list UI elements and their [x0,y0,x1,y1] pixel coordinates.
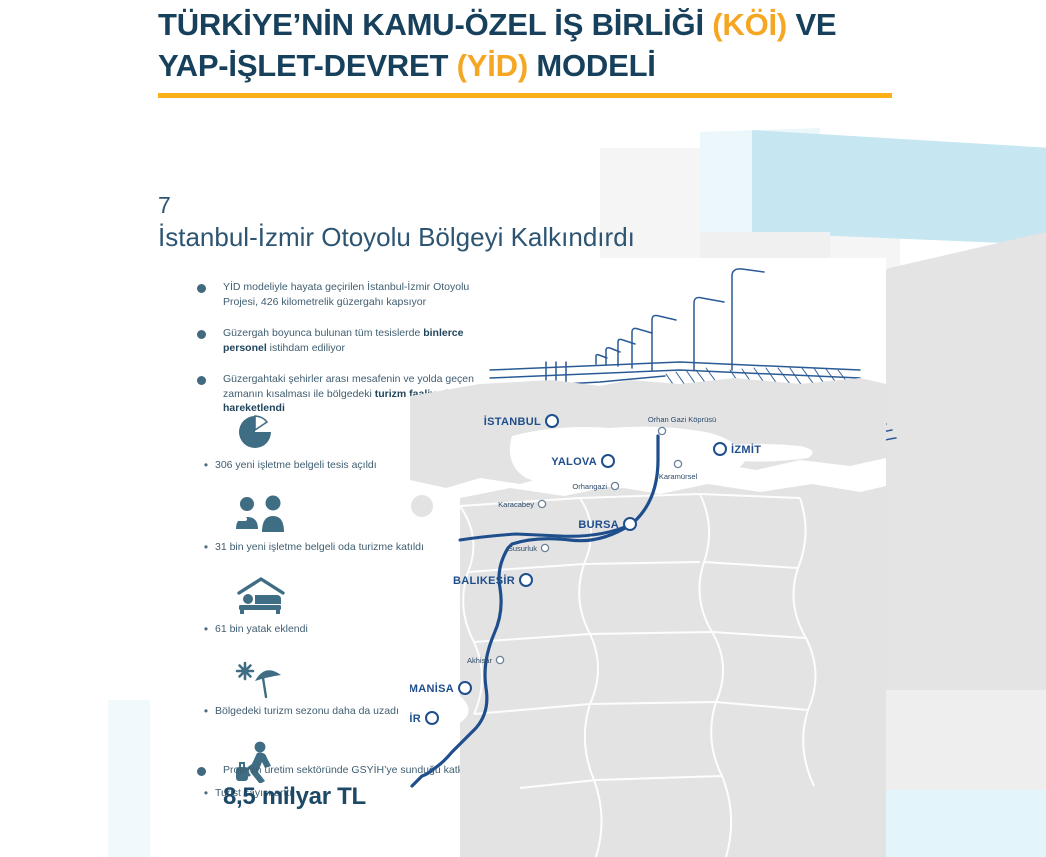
bullet-item: YİD modeliyle hayata geçirilen İstanbul-… [197,280,487,309]
title-line-1: TÜRKİYE’NİN KAMU-ÖZEL İŞ BİRLİĞİ (KÖİ) V… [158,0,898,45]
section-number: 7 [158,192,171,218]
regional-map: Orhan Gazi KöprüsüKaramürselOrhangaziKar… [410,368,886,857]
decorative-grey-header-panel [600,148,900,268]
city-marker-icon [714,443,726,455]
city-label: MANİSA [410,682,454,695]
stat-bullet-icon: • [197,458,215,473]
map-city-major: MANİSA [410,682,471,695]
stat-bullet-icon: • [197,622,215,637]
bullet-dot-icon [197,767,206,776]
city-label: Orhangazi [572,482,607,491]
bullet-dot-icon [197,376,206,385]
stat-text: 31 bin yeni işletme belgeli oda turizme … [215,540,424,555]
decorative-grey-panel-lower [880,690,1046,857]
city-label: Susurluk [508,544,537,553]
city-marker-icon [658,427,665,434]
city-label: Akhisar [467,656,493,665]
bullet-dot-icon [197,284,206,293]
bullet-text: YİD modeliyle hayata geçirilen İstanbul-… [223,280,487,309]
stat-bullet-icon: • [197,704,215,719]
city-marker-icon [546,415,558,427]
city-marker-icon [611,482,618,489]
bullet-text: Güzergah boyunca bulunan tüm tesislerde … [223,326,487,355]
city-marker-icon [496,656,503,663]
city-marker-icon [674,460,681,467]
city-marker-icon [459,682,471,694]
map-city-major: BURSA [578,518,636,531]
map-city-major: YALOVA [551,455,614,468]
stat-text: 61 bin yatak eklendi [215,622,308,637]
decorative-blue-panel-lower [880,790,1046,857]
bullet-item: Güzergah boyunca bulunan tüm tesislerde … [197,326,487,355]
city-marker-icon [541,544,548,551]
slide-title: TÜRKİYE’NİN KAMU-ÖZEL İŞ BİRLİĞİ (KÖİ) V… [158,0,898,86]
stat-text: Bölgedeki turizm sezonu daha da uzadı [215,704,399,719]
city-marker-icon [520,574,532,586]
city-label: BURSA [578,519,619,531]
stat-text: 306 yeni işletme belgeli tesis açıldı [215,458,377,473]
decorative-pale-blue-band [700,120,820,245]
city-marker-icon [426,712,438,724]
title-divider-rule [158,93,892,98]
title-line-2: YAP-İŞLET-DEVRET (YİD) MODELİ [158,45,898,86]
city-marker-icon [602,455,614,467]
city-marker-icon [538,500,545,507]
title-line-2-post: MODELİ [528,48,656,83]
title-line-2-pre: YAP-İŞLET-DEVRET [158,48,457,83]
city-label: İZMİR [410,712,421,725]
decorative-blue-band [752,120,1046,245]
city-label: BALIKESİR [453,574,515,587]
title-line-2-accent: (YİD) [457,48,528,83]
city-label: Karacabey [498,500,534,509]
title-line-1-accent: (KÖİ) [712,7,787,42]
page-title: İstanbul-İzmir Otoyolu Bölgeyi Kalkındır… [158,220,635,254]
title-line-1-pre: TÜRKİYE’NİN KAMU-ÖZEL İŞ BİRLİĞİ [158,7,712,42]
city-label: YALOVA [551,456,597,468]
city-label: İSTANBUL [484,415,541,428]
title-line-1-post: VE [787,7,836,42]
map-city-major: İZMİT [714,443,761,456]
city-label: İZMİT [731,443,761,456]
city-label: Karamürsel [659,472,698,481]
content-card: YİD modeliyle hayata geçirilen İstanbul-… [150,258,886,857]
stat-bullet-icon: • [197,540,215,555]
city-label: Orhan Gazi Köprüsü [648,415,716,424]
city-marker-icon [624,518,636,530]
bullet-dot-icon [197,330,206,339]
map-city-minor: Akhisar [467,656,504,665]
